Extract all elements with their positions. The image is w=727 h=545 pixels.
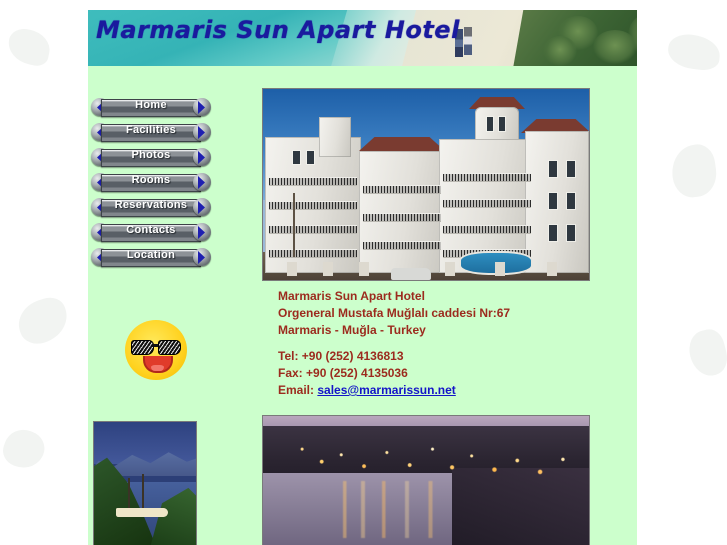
sunglass-lens xyxy=(158,340,181,355)
sidebar-item-facilities[interactable]: Facilities xyxy=(91,122,211,142)
balcony xyxy=(269,201,357,210)
balcony xyxy=(443,199,531,208)
sidebar-item-rooms[interactable]: Rooms xyxy=(91,172,211,192)
main-navigation: Home Facilities Phot xyxy=(91,97,215,272)
background-watermark-shape xyxy=(685,326,727,379)
page-root: Marmaris Sun Apart Hotel Home Facil xyxy=(0,0,727,545)
window xyxy=(567,161,575,177)
arrow-right-icon xyxy=(198,126,205,139)
boundary-wall xyxy=(287,262,297,276)
arrow-right-icon xyxy=(198,251,205,264)
background-watermark-shape xyxy=(5,26,53,68)
street-address: Orgeneral Mustafa Muğlalı caddesi Nr:67 xyxy=(278,305,510,322)
rooftop-structure xyxy=(319,117,351,157)
boundary-wall xyxy=(323,262,333,276)
block-spacer xyxy=(278,339,510,348)
button-cap-right-icon xyxy=(193,148,211,166)
balcony xyxy=(363,185,441,194)
fax-number: Fax: +90 (252) 4135036 xyxy=(278,365,510,382)
smiling-sun-icon xyxy=(97,292,215,408)
balcony xyxy=(443,225,531,234)
button-cap-right-icon xyxy=(193,123,211,141)
harbour-night-photo xyxy=(262,415,590,545)
sidebar-item-photos[interactable]: Photos xyxy=(91,147,211,167)
boundary-wall xyxy=(359,262,369,276)
window xyxy=(499,117,505,131)
button-cap-right-icon xyxy=(193,198,211,216)
window xyxy=(567,225,575,241)
window xyxy=(307,151,314,164)
sun-tongue xyxy=(151,365,164,371)
hotel-name: Marmaris Sun Apart Hotel xyxy=(278,288,510,305)
background-watermark-shape xyxy=(669,142,720,200)
window xyxy=(487,117,493,131)
button-cap-right-icon xyxy=(193,98,211,116)
window xyxy=(293,151,300,164)
background-watermark-shape xyxy=(666,32,721,71)
parked-car xyxy=(391,268,431,280)
balcony xyxy=(269,177,357,186)
balcony xyxy=(443,173,531,182)
button-cap-right-icon xyxy=(193,173,211,191)
balcony xyxy=(269,249,357,258)
boat-mast xyxy=(128,478,130,510)
contact-info-block: Marmaris Sun Apart Hotel Orgeneral Musta… xyxy=(278,288,510,399)
sidebar-item-location[interactable]: Location xyxy=(91,247,211,267)
bay-boat-photo xyxy=(93,421,197,545)
sidebar-item-reservations[interactable]: Reservations xyxy=(91,197,211,217)
arrow-right-icon xyxy=(198,101,205,114)
sidebar-item-contacts[interactable]: Contacts xyxy=(91,222,211,242)
window xyxy=(549,193,557,209)
balcony xyxy=(269,225,357,234)
sidebar-item-home[interactable]: Home xyxy=(91,97,211,117)
boundary-wall xyxy=(445,262,455,276)
window xyxy=(549,161,557,177)
email-row: Email: sales@marmarissun.net xyxy=(278,382,510,399)
sunglass-lens xyxy=(131,340,154,355)
photo-sky xyxy=(94,422,196,464)
city-country: Marmaris - Muğla - Turkey xyxy=(278,322,510,339)
light-reflections xyxy=(335,481,465,538)
window xyxy=(567,193,575,209)
palm-tree-icon xyxy=(543,36,577,66)
button-cap-right-icon xyxy=(193,223,211,241)
arrow-right-icon xyxy=(198,151,205,164)
hotel-exterior-photo xyxy=(262,88,590,281)
telephone: Tel: +90 (252) 4136813 xyxy=(278,348,510,365)
apartment-building xyxy=(359,151,445,273)
email-link[interactable]: sales@marmarissun.net xyxy=(317,383,455,397)
gulet-boat xyxy=(116,508,168,517)
content-panel: Home Facilities Phot xyxy=(88,66,637,545)
boundary-wall xyxy=(547,262,557,276)
button-cap-right-icon xyxy=(193,248,211,266)
sunglasses-icon xyxy=(131,340,181,353)
balcony xyxy=(363,213,441,222)
site-banner: Marmaris Sun Apart Hotel xyxy=(88,10,637,66)
arrow-right-icon xyxy=(198,201,205,214)
boat-mast xyxy=(142,474,144,510)
balcony xyxy=(363,241,441,250)
boundary-wall xyxy=(495,262,505,276)
background-watermark-shape xyxy=(13,293,74,348)
arrow-right-icon xyxy=(198,226,205,239)
apartment-building xyxy=(525,131,589,273)
utility-pole xyxy=(293,193,295,257)
arrow-right-icon xyxy=(198,176,205,189)
background-watermark-shape xyxy=(0,424,49,473)
email-label: Email: xyxy=(278,383,314,397)
window xyxy=(549,225,557,241)
person-figure xyxy=(464,27,472,55)
page-title: Marmaris Sun Apart Hotel xyxy=(96,16,460,44)
